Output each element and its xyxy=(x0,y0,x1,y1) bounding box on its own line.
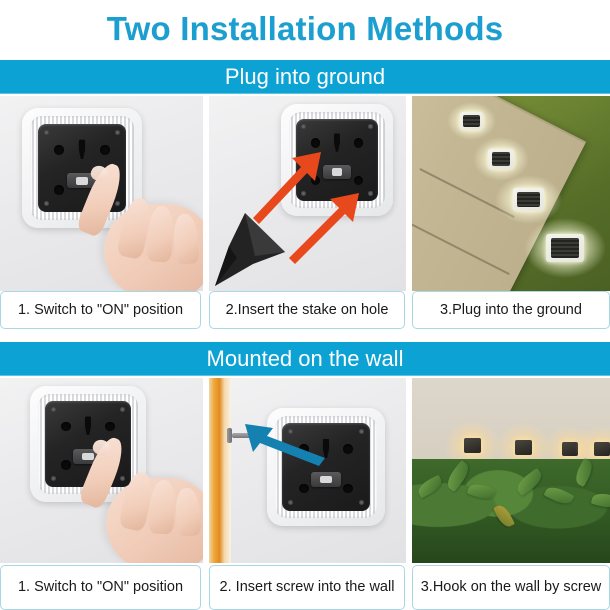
solar-light-on-wall xyxy=(594,442,610,456)
mounting-hole xyxy=(54,185,64,195)
solar-light-in-grass xyxy=(460,112,483,130)
step-image-2-2-insert-screw xyxy=(209,378,406,563)
light-body xyxy=(594,442,610,456)
leaf xyxy=(572,458,596,487)
light-body xyxy=(488,149,514,169)
section-header-plug-into-ground: Plug into ground xyxy=(0,60,610,94)
solar-light-on-wall xyxy=(464,438,481,453)
arrow-to-lower-hole xyxy=(289,193,359,264)
fixture-face xyxy=(45,401,131,487)
ground-stake-icon xyxy=(215,213,285,286)
light-body xyxy=(513,188,544,211)
arrow-to-upper-hole xyxy=(253,152,321,224)
mounting-hole xyxy=(105,460,114,469)
light-body xyxy=(546,234,584,262)
installation-infographic: Two Installation Methods Plug into groun… xyxy=(0,0,610,610)
step-image-1-1-switch-on xyxy=(0,96,203,291)
screw-icon xyxy=(115,130,120,135)
screw-icon xyxy=(120,407,125,412)
screw-icon xyxy=(51,407,56,412)
section-1-captions: 1. Switch to "ON" position 2.Insert the … xyxy=(0,291,610,329)
caption-step-1-2: 2.Insert the stake on hole xyxy=(209,291,405,329)
section-header-mounted-on-wall: Mounted on the wall xyxy=(0,342,610,376)
caption-step-1-1: 1. Switch to "ON" position xyxy=(0,291,201,329)
section-1-image-strip xyxy=(0,96,610,291)
caption-step-2-1: 1. Switch to "ON" position xyxy=(0,565,201,610)
step-image-1-2-insert-stake xyxy=(209,96,406,291)
leaf xyxy=(467,481,497,502)
power-switch[interactable] xyxy=(67,173,97,188)
fixture-face xyxy=(38,124,127,213)
garden-photo xyxy=(412,96,610,291)
screw-icon xyxy=(115,201,120,206)
solar-light-fixture xyxy=(22,108,142,228)
caption-step-2-3: 3.Hook on the wall by screw xyxy=(412,565,610,610)
screw-icon xyxy=(120,476,125,481)
section-2-captions: 1. Switch to "ON" position 2. Insert scr… xyxy=(0,565,610,610)
light-body xyxy=(515,440,532,455)
leaf xyxy=(514,468,546,496)
keyhole-slot xyxy=(83,417,92,436)
mounting-hole xyxy=(54,145,64,155)
solar-light-in-grass xyxy=(488,149,514,169)
page-title: Two Installation Methods xyxy=(0,0,610,57)
screw-direction-arrow xyxy=(209,378,406,563)
screw-icon xyxy=(51,476,56,481)
step-image-2-3-lights-on-wall xyxy=(412,378,610,563)
mounting-hole xyxy=(105,422,114,431)
screw-icon xyxy=(44,201,49,206)
step-image-1-3-lights-in-ground xyxy=(412,96,610,291)
leaf xyxy=(591,491,610,510)
caption-step-2-2: 2. Insert screw into the wall xyxy=(209,565,405,610)
screw-icon xyxy=(44,130,49,135)
wall-photo xyxy=(412,378,610,563)
mounting-hole xyxy=(100,185,110,195)
caption-step-1-3: 3.Plug into the ground xyxy=(412,291,610,329)
step-image-2-1-switch-on xyxy=(0,378,203,563)
leaf xyxy=(415,475,444,499)
solar-light-fixture xyxy=(30,386,146,502)
solar-light-in-grass xyxy=(546,234,584,262)
keyhole-slot xyxy=(77,140,87,160)
mounting-hole xyxy=(100,145,110,155)
shrub-foliage xyxy=(412,459,610,563)
power-switch[interactable] xyxy=(73,449,102,464)
stake-and-arrows-graphic xyxy=(209,96,406,291)
light-body xyxy=(460,112,483,130)
leaf xyxy=(544,484,575,508)
light-body xyxy=(464,438,481,453)
solar-light-in-grass xyxy=(513,188,544,211)
solar-light-on-wall xyxy=(515,440,532,455)
section-2-image-strip xyxy=(0,378,610,563)
leaf xyxy=(493,502,515,529)
arrow-to-screw xyxy=(245,424,325,466)
mounting-hole xyxy=(61,460,70,469)
mounting-hole xyxy=(61,422,70,431)
